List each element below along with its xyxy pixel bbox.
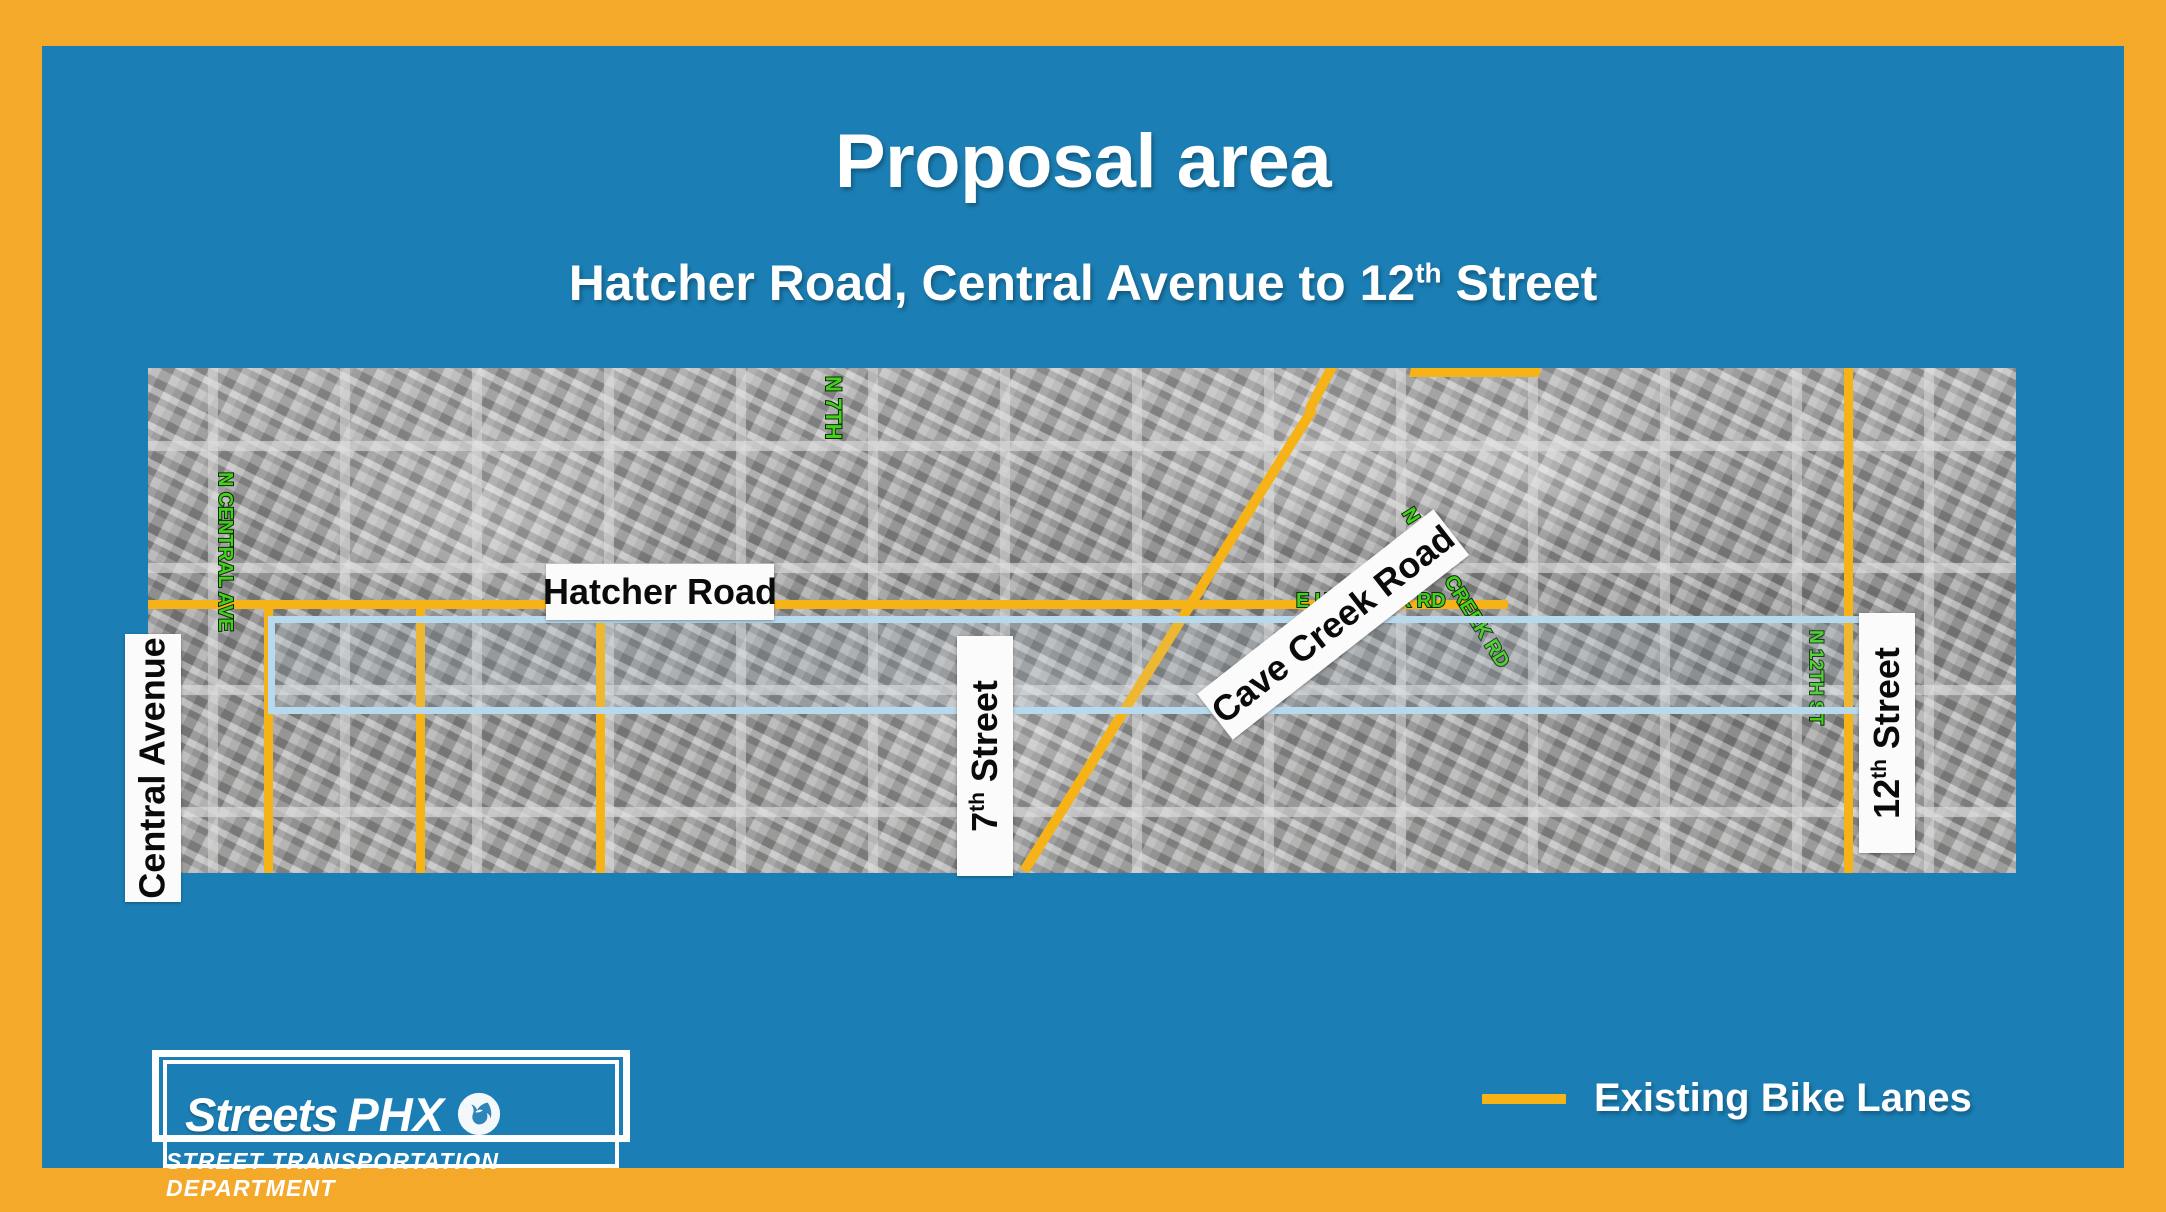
map-callout-hatcher-road: Hatcher Road [546,564,774,620]
slide-content-panel: Proposal area Hatcher Road, Central Aven… [42,46,2124,1168]
streets-phx-logo: Streets PHX STREET TRANSPORTATION DEPART… [152,1050,630,1178]
subtitle-ordinal-suffix: th [1415,257,1441,288]
callout-7th-suffix: Street [964,680,1005,792]
map-callout-7th-street-label: 7th Street [964,680,1006,832]
aerial-label-n-7th: N 7TH [820,376,846,440]
subtitle-prefix: Hatcher Road, Central Avenue to 12 [569,255,1416,311]
map-callout-12th-street: 12th Street [1859,613,1915,853]
slide-frame: Proposal area Hatcher Road, Central Aven… [0,0,2166,1212]
map-callout-7th-street: 7th Street [957,636,1013,876]
proposal-boundary-box [268,616,1906,714]
aerial-label-n-central-ave: N CENTRAL AVE [213,472,236,632]
logo-tagline: STREET TRANSPORTATION DEPARTMENT [166,1148,630,1202]
map-callout-hatcher-road-label: Hatcher Road [543,571,777,613]
logo-phx-text: PHX [347,1087,444,1142]
subtitle-suffix: Street [1442,255,1598,311]
logo-streets-text: Streets [185,1087,337,1142]
map-legend: Existing Bike Lanes [1482,1076,1972,1121]
callout-7th-prefix: 7 [964,812,1005,832]
map-callout-central-avenue-label: Central Avenue [132,637,174,898]
callout-12th-suffix: Street [1866,647,1907,759]
callout-12th-prefix: 12 [1866,779,1907,819]
page-subtitle: Hatcher Road, Central Avenue to 12th Str… [42,254,2124,312]
map-callout-central-avenue: Central Avenue [125,634,181,902]
legend-bike-lane-swatch [1482,1094,1566,1104]
aerial-map[interactable]: N 7TH E HATCHER RD N CAVE CREEK RD N CEN… [148,368,2016,873]
legend-bike-lane-label: Existing Bike Lanes [1594,1076,1972,1121]
page-title: Proposal area [42,118,2124,205]
bike-lane-hatcher-west [148,600,1458,609]
map-callout-12th-street-label: 12th Street [1866,647,1908,819]
callout-12th-sup: th [1868,759,1891,779]
phoenix-bird-icon [456,1091,502,1137]
callout-7th-sup: th [966,792,989,812]
bike-lane-north-connector [1409,368,1541,377]
